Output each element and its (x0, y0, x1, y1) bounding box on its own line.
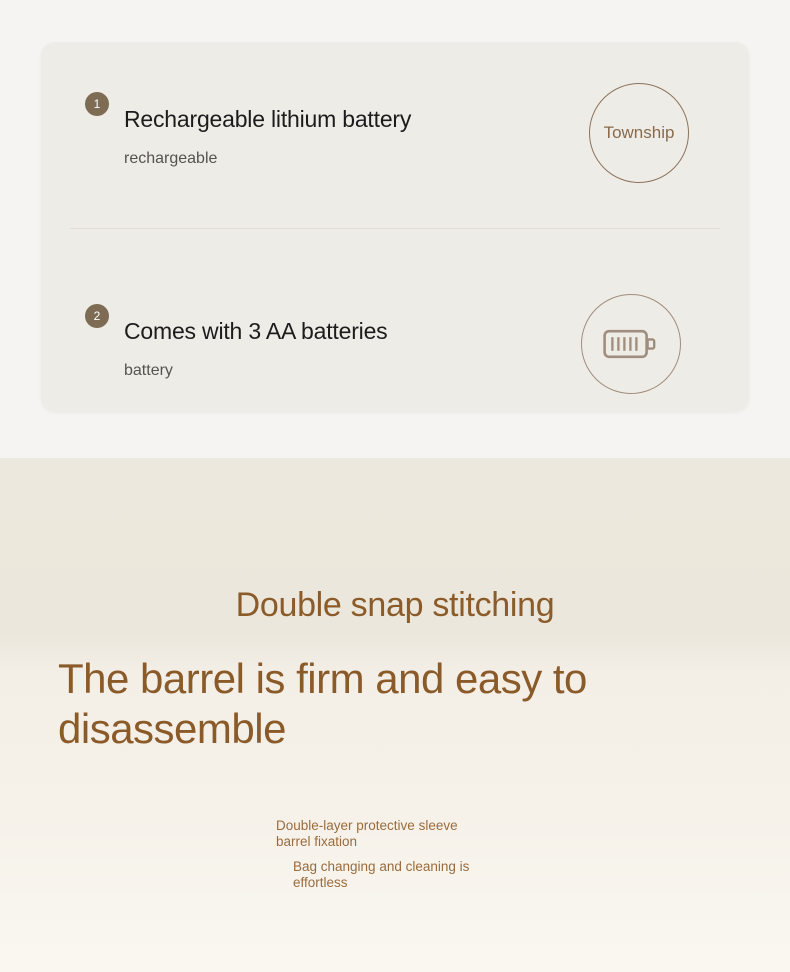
battery-circle-frame (581, 294, 681, 394)
feature-text-block: Comes with 3 AA batteries battery (124, 316, 387, 381)
feature-subtitle: battery (124, 361, 387, 381)
feature-number-badge: 2 (85, 304, 109, 328)
promo-heading: The barrel is firm and easy to disassemb… (58, 654, 738, 754)
battery-icon (603, 327, 659, 361)
promo-eyebrow: Double snap stitching (0, 584, 790, 626)
feature-number-badge: 1 (85, 92, 109, 116)
feature-title: Rechargeable lithium battery (124, 104, 411, 134)
feature-text-block: Rechargeable lithium battery rechargeabl… (124, 104, 411, 169)
feature-title: Comes with 3 AA batteries (124, 316, 387, 346)
annotation-sleeve-fixation: Double-layer protective sleeve barrel fi… (276, 818, 676, 850)
promo-section: Double snap stitching The barrel is firm… (0, 458, 790, 972)
features-section: 1 Rechargeable lithium battery rechargea… (0, 0, 790, 458)
feature-row[interactable]: 1 Rechargeable lithium battery rechargea… (41, 42, 749, 227)
township-circle-label: Township (604, 123, 675, 143)
township-circle-icon: Township (589, 83, 689, 183)
feature-subtitle: rechargeable (124, 149, 411, 169)
feature-row[interactable]: 2 Comes with 3 AA batteries battery (41, 228, 749, 413)
feature-card: 1 Rechargeable lithium battery rechargea… (41, 42, 749, 412)
annotation-bag-changing: Bag changing and cleaning is effortless (293, 859, 676, 891)
annotation-group: Double-layer protective sleeve barrel fi… (276, 818, 676, 891)
